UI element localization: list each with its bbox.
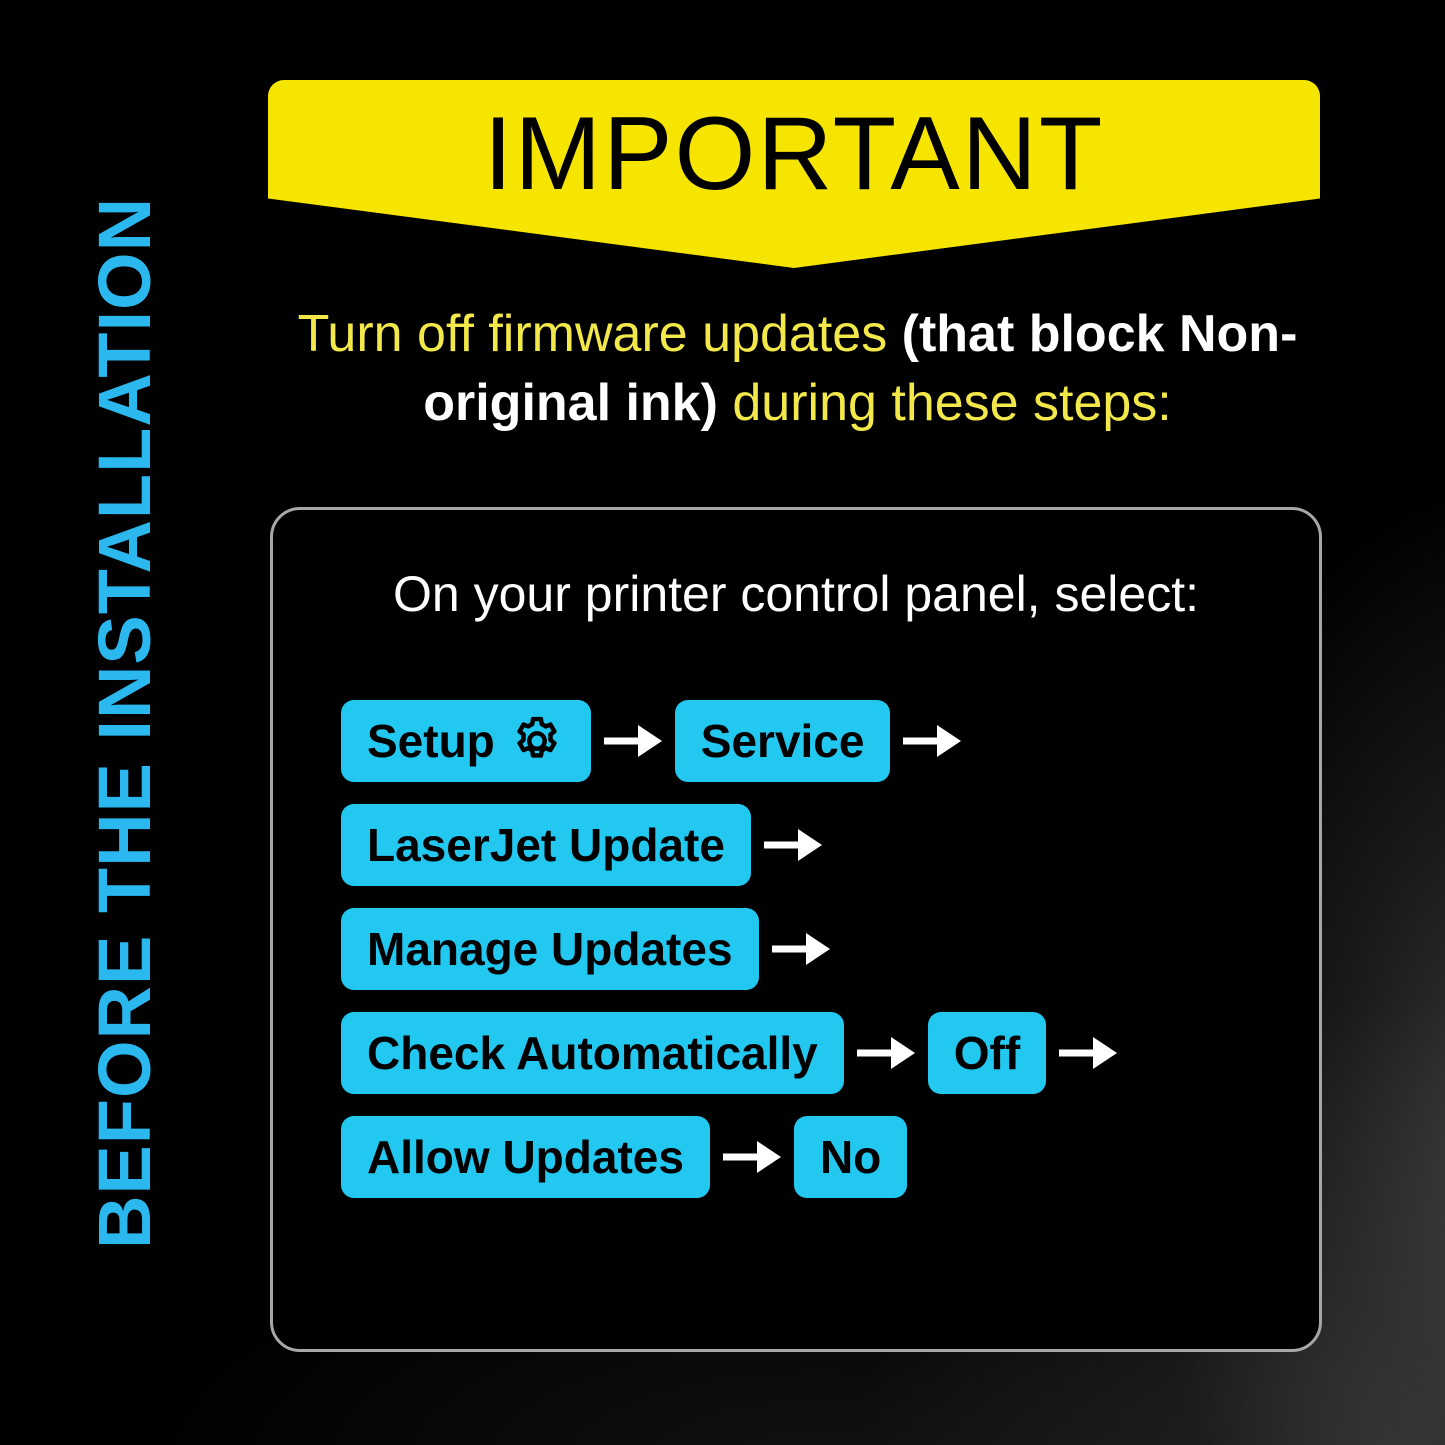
step-row: Setup Service — [341, 698, 1309, 784]
chip-service[interactable]: Service — [675, 700, 891, 782]
chip-service-label: Service — [701, 714, 865, 768]
arrow-icon — [751, 824, 835, 866]
chip-allow-updates[interactable]: Allow Updates — [341, 1116, 710, 1198]
important-banner-title: IMPORTANT — [484, 102, 1105, 268]
arrow-icon — [1046, 1032, 1130, 1074]
side-title-text: BEFORE THE INSTALLATION — [88, 196, 162, 1248]
chip-allow-updates-label: Allow Updates — [367, 1130, 684, 1184]
chip-off[interactable]: Off — [928, 1012, 1046, 1094]
chip-check-automatically-label: Check Automatically — [367, 1026, 818, 1080]
chip-check-automatically[interactable]: Check Automatically — [341, 1012, 844, 1094]
chip-no-label: No — [820, 1130, 881, 1184]
control-panel-steps-box: On your printer control panel, select: S… — [270, 507, 1322, 1352]
step-row: Check Automatically Off — [341, 1010, 1309, 1096]
headline-part-1: Turn off firmware updates — [298, 305, 902, 363]
arrow-icon — [591, 720, 675, 762]
step-row: Manage Updates — [341, 906, 1309, 992]
arrow-icon — [890, 720, 974, 762]
panel-heading: On your printer control panel, select: — [273, 565, 1319, 623]
chip-off-label: Off — [954, 1026, 1020, 1080]
chip-manage-updates[interactable]: Manage Updates — [341, 908, 759, 990]
chip-manage-updates-label: Manage Updates — [367, 922, 733, 976]
chip-setup-label: Setup — [367, 714, 495, 768]
gear-icon — [509, 713, 565, 769]
arrow-icon — [759, 928, 843, 970]
chip-no[interactable]: No — [794, 1116, 907, 1198]
steps-list: Setup Service — [341, 698, 1309, 1218]
chip-laserjet-update-label: LaserJet Update — [367, 818, 725, 872]
step-row: LaserJet Update — [341, 802, 1309, 888]
arrow-icon — [844, 1032, 928, 1074]
poster-canvas: BEFORE THE INSTALLATION IMPORTANT Turn o… — [0, 0, 1445, 1445]
chip-setup[interactable]: Setup — [341, 700, 591, 782]
chip-laserjet-update[interactable]: LaserJet Update — [341, 804, 751, 886]
headline-part-3: during these steps: — [718, 374, 1172, 432]
arrow-icon — [710, 1136, 794, 1178]
step-row: Allow Updates No — [341, 1114, 1309, 1200]
headline: Turn off firmware updates (that block No… — [270, 300, 1325, 437]
important-banner: IMPORTANT — [268, 80, 1320, 268]
side-title-container: BEFORE THE INSTALLATION — [0, 0, 250, 1445]
